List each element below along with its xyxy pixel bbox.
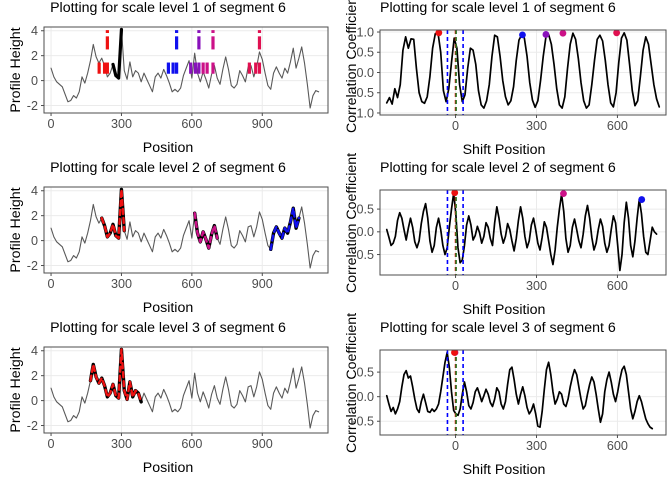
y-tick-label: 4 xyxy=(31,344,38,358)
y-tick-label: -2 xyxy=(27,259,38,273)
y-tick-label: -2 xyxy=(27,99,38,113)
panel-p2-right: Plotting for scale level 2 of segment 6C… xyxy=(336,160,672,320)
x-tick-label: 600 xyxy=(607,119,628,133)
x-tick-label: 600 xyxy=(181,277,202,291)
panel-p2-left: Plotting for scale level 2 of segment 6P… xyxy=(0,160,336,320)
panel-p3-left: Plotting for scale level 3 of segment 6P… xyxy=(0,320,336,480)
x-tick-label: 600 xyxy=(181,437,202,451)
x-tick-label: 900 xyxy=(252,437,273,451)
x-tick-label: 600 xyxy=(181,117,202,131)
y-tick-label: 0.0 xyxy=(356,66,374,80)
x-tick-label: 600 xyxy=(607,439,628,453)
panel-p1-right: Plotting for scale level 1 of segment 6C… xyxy=(336,0,672,160)
x-tick-label: 300 xyxy=(526,119,547,133)
y-tick-label: 2 xyxy=(31,49,38,63)
y-tick-label: -0.5 xyxy=(352,415,374,429)
x-tick-label: 0 xyxy=(48,117,55,131)
y-tick-label: 0.5 xyxy=(356,46,374,60)
x-tick-label: 0 xyxy=(452,279,459,293)
panel-background xyxy=(380,350,666,435)
x-tick-label: 300 xyxy=(526,279,547,293)
y-tick-label: -0.5 xyxy=(352,86,374,100)
figure-grid: Plotting for scale level 1 of segment 6P… xyxy=(0,0,672,480)
plot-area: -20240300600900 xyxy=(0,320,336,480)
plot-area: -20240300600900 xyxy=(0,160,336,320)
y-tick-label: -0.5 xyxy=(352,248,374,262)
panel-p1-left: Plotting for scale level 1 of segment 6P… xyxy=(0,0,336,160)
y-tick-label: -1.0 xyxy=(352,106,374,120)
plot-area: -20240300600900 xyxy=(0,0,336,160)
y-tick-label: 0.0 xyxy=(356,225,374,239)
y-tick-label: 0.0 xyxy=(356,390,374,404)
panel-p3-right: Plotting for scale level 3 of segment 6C… xyxy=(336,320,672,480)
plot-area: -1.0-0.50.00.51.00300600 xyxy=(336,0,672,160)
x-tick-label: 0 xyxy=(452,119,459,133)
x-tick-label: 300 xyxy=(111,117,132,131)
y-tick-label: 1.0 xyxy=(356,25,374,39)
peak-marker xyxy=(560,190,567,197)
y-tick-label: 0.5 xyxy=(356,202,374,216)
y-tick-label: 0 xyxy=(31,394,38,408)
x-tick-label: 900 xyxy=(252,277,273,291)
peak-marker xyxy=(519,31,526,38)
y-tick-label: 0 xyxy=(31,234,38,248)
y-tick-label: -2 xyxy=(27,419,38,433)
y-tick-label: 4 xyxy=(31,184,38,198)
y-tick-label: 0 xyxy=(31,74,38,88)
x-tick-label: 300 xyxy=(111,437,132,451)
x-tick-label: 0 xyxy=(48,437,55,451)
peak-marker xyxy=(543,31,550,38)
peak-marker xyxy=(638,196,645,203)
y-tick-label: 4 xyxy=(31,24,38,38)
x-tick-label: 0 xyxy=(48,277,55,291)
plot-area: -0.50.00.50300600 xyxy=(336,320,672,480)
x-tick-label: 300 xyxy=(111,277,132,291)
y-tick-label: 2 xyxy=(31,369,38,383)
y-tick-label: 0.5 xyxy=(356,366,374,380)
plot-area: -0.50.00.50300600 xyxy=(336,160,672,320)
y-tick-label: 2 xyxy=(31,209,38,223)
x-tick-label: 900 xyxy=(252,117,273,131)
x-tick-label: 0 xyxy=(452,439,459,453)
x-tick-label: 600 xyxy=(607,279,628,293)
peak-marker xyxy=(560,30,567,37)
x-tick-label: 300 xyxy=(526,439,547,453)
